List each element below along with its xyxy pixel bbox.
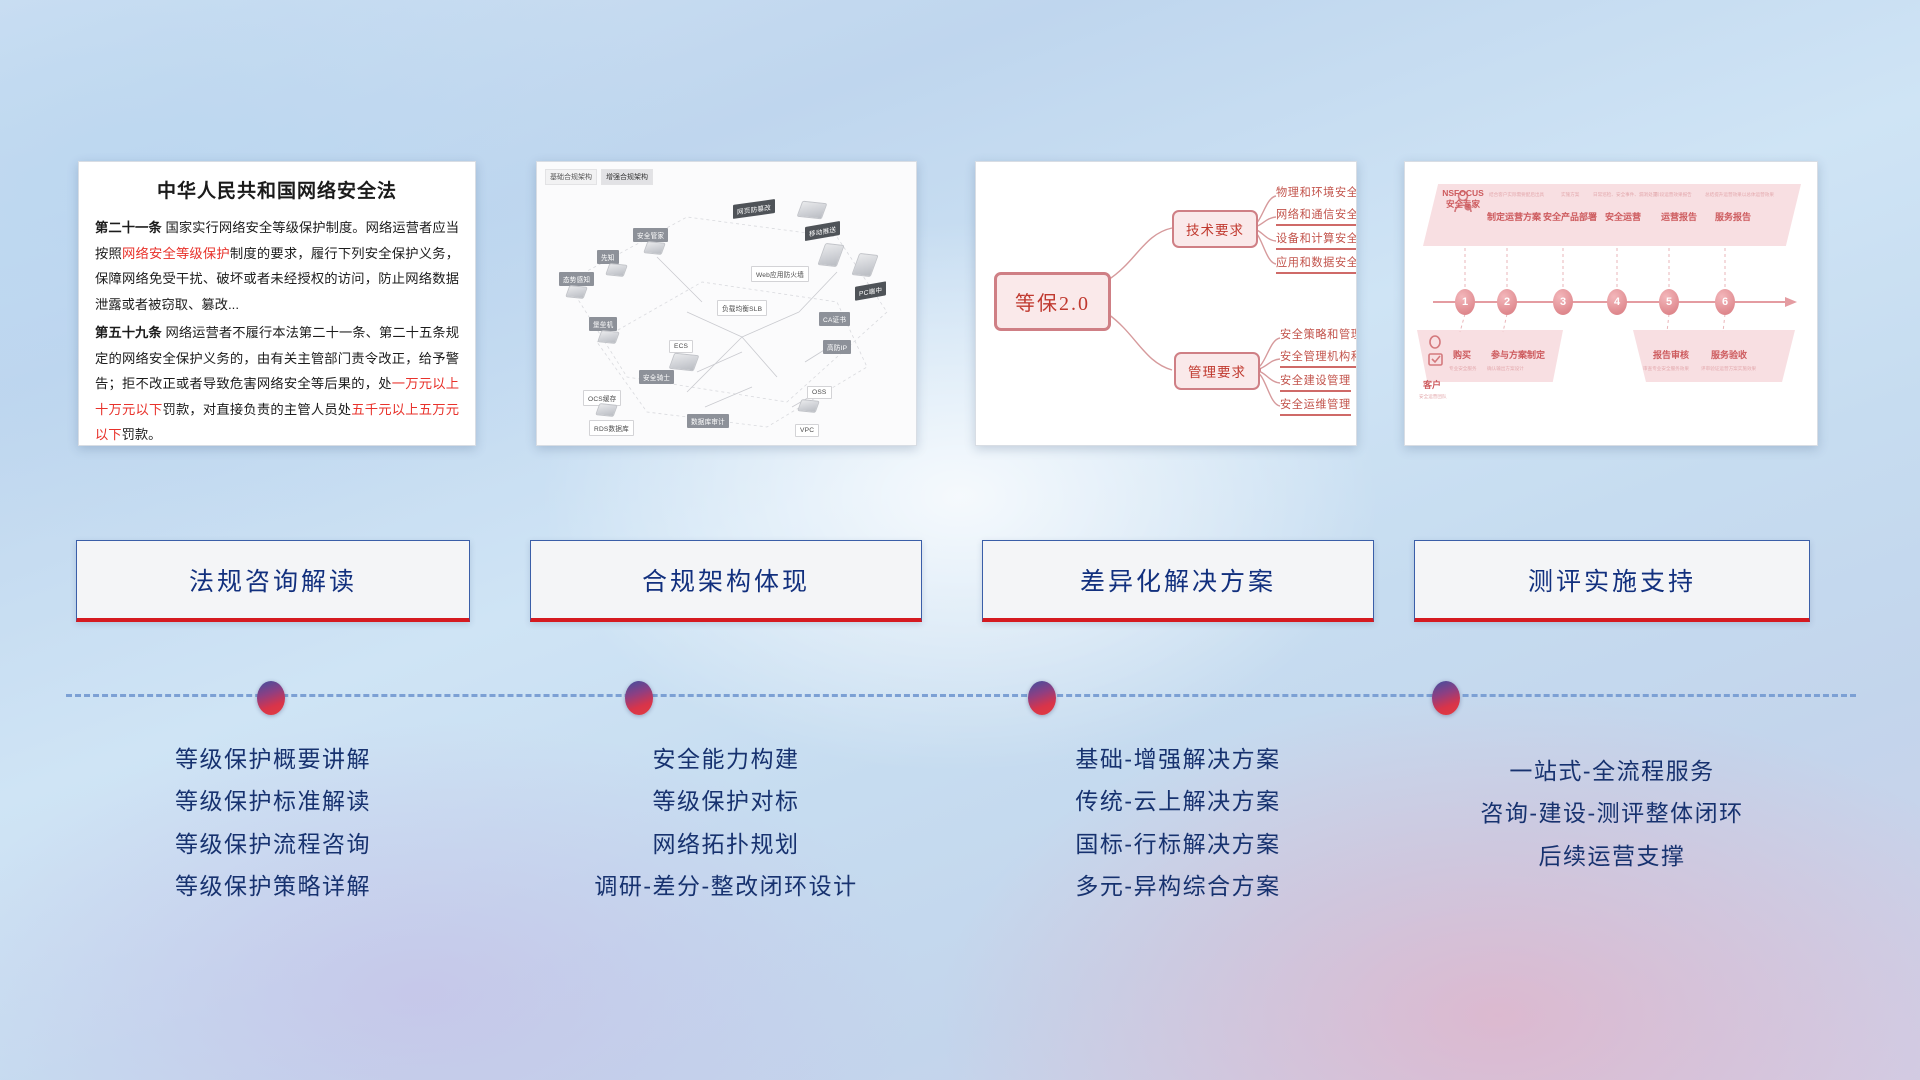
pillar-box-differentiated-solution[interactable]: 差异化解决方案 bbox=[982, 540, 1374, 622]
list-item: 等级保护标准解读 bbox=[76, 780, 470, 822]
mindmap-leaf-construction-mgmt: 安全建设管理 bbox=[1280, 372, 1351, 392]
article-21-label: 第二十一条 bbox=[95, 220, 162, 235]
architecture-diagram: 基础合规架构 增强合规架构 网页防篡改 bbox=[537, 162, 916, 445]
pillar-title-3: 差异化解决方案 bbox=[1080, 562, 1276, 598]
mindmap-branch-management: 管理要求 bbox=[1174, 352, 1260, 390]
node-load-balancer-slb: 负载均衡SLB bbox=[717, 300, 767, 316]
timeline-step-5-label: 运营报告 bbox=[1661, 210, 1697, 223]
bottom-right-sub-1: 审查专业安全服务效果 bbox=[1643, 366, 1689, 372]
article-21-highlight: 网络安全等级保护 bbox=[122, 246, 230, 261]
law-title: 中华人民共和国网络安全法 bbox=[95, 176, 459, 203]
pillar-title-2: 合规架构体现 bbox=[642, 562, 810, 598]
node-situation-awareness: 态势感知 bbox=[559, 272, 594, 286]
mindmap-branch-technical: 技术要求 bbox=[1172, 210, 1258, 248]
node-ca-certificate: CA证书 bbox=[819, 312, 850, 326]
list-item: 等级保护对标 bbox=[530, 780, 922, 822]
list-item: 基础-增强解决方案 bbox=[982, 738, 1374, 780]
list-item: 咨询-建设-测评整体闭环 bbox=[1414, 792, 1810, 834]
timeline-node-6[interactable]: 6 bbox=[1715, 289, 1735, 315]
list-item: 安全能力构建 bbox=[530, 738, 922, 780]
pillar-label-row: 法规咨询解读 合规架构体现 差异化解决方案 测评实施支持 bbox=[0, 540, 1920, 630]
nsfocus-brand: NSFOCUS bbox=[1435, 188, 1491, 199]
bottom-left-label-1: 购买 bbox=[1453, 348, 1471, 361]
timeline-step-3-sub: 日常巡检、安全事件、漏洞处置 bbox=[1593, 192, 1657, 198]
bottom-left-label-2: 参与方案制定 bbox=[1491, 348, 1545, 361]
node-rds-database: RDS数据库 bbox=[589, 420, 634, 436]
law-article-59: 第五十九条 网络运营者不履行本法第二十一条、第二十五条规定的网络安全保护义务的，… bbox=[95, 320, 459, 446]
bottom-right-sub-2: 评审验证运营方案实施效果 bbox=[1701, 366, 1756, 372]
timeline-top-expert-sub: 结合客户实际需要配后出具 bbox=[1489, 192, 1544, 198]
pillar-box-assessment-support[interactable]: 测评实施支持 bbox=[1414, 540, 1810, 622]
bottom-left-sub-1: 专业安全服务 bbox=[1449, 366, 1477, 372]
node-database-audit: 数据库审计 bbox=[687, 414, 729, 428]
timeline-node-5[interactable]: 5 bbox=[1659, 289, 1679, 315]
timeline-node-4[interactable]: 4 bbox=[1607, 289, 1627, 315]
timeline-node-1[interactable]: 1 bbox=[1455, 289, 1475, 315]
article-59-text-c: 罚款。 bbox=[122, 427, 162, 442]
nsfocus-expert-block: NSFOCUS 安全专家 bbox=[1435, 188, 1491, 209]
bottom-right-label-2: 服务验收 bbox=[1711, 348, 1747, 361]
timeline-marker-1 bbox=[257, 681, 285, 715]
list-item: 一站式-全流程服务 bbox=[1414, 750, 1810, 792]
pillar-title-1: 法规咨询解读 bbox=[189, 562, 357, 598]
bottom-left-sub-2: 确认输出方案设计 bbox=[1487, 366, 1524, 372]
pillar-title-4: 测评实施支持 bbox=[1528, 562, 1696, 598]
pillar-box-regulation-consulting[interactable]: 法规咨询解读 bbox=[76, 540, 470, 622]
card-compliance-architecture[interactable]: 基础合规架构 增强合规架构 网页防篡改 bbox=[536, 161, 917, 446]
list-item: 网络拓扑规划 bbox=[530, 823, 922, 865]
pillar-items-3: 基础-增强解决方案 传统-云上解决方案 国标-行标解决方案 多元-异构综合方案 bbox=[982, 738, 1374, 907]
node-oss: OSS bbox=[807, 386, 832, 399]
node-vpc: VPC bbox=[795, 424, 819, 437]
node-web-application-firewall: Web应用防火墙 bbox=[751, 266, 809, 282]
customer-label: 客户 bbox=[1423, 378, 1441, 391]
timeline-step-2-sub: 实施方案 bbox=[1561, 192, 1579, 198]
list-item: 调研-差分-整改闭环设计 bbox=[530, 865, 922, 907]
pillar-items-4: 一站式-全流程服务 咨询-建设-测评整体闭环 后续运营支撑 bbox=[1414, 750, 1810, 877]
timeline-step-4-label: 安全运营 bbox=[1605, 210, 1641, 223]
mindmap-leaf-ops-mgmt: 安全运维管理 bbox=[1280, 396, 1351, 416]
article-59-label: 第五十九条 bbox=[95, 325, 162, 340]
thumbnail-card-row: 中华人民共和国网络安全法 第二十一条 国家实行网络安全等级保护制度。网络运营者应… bbox=[0, 152, 1920, 452]
mindmap-diagram: 等保2.0 技术要求 管理要求 物理和环境安全 网络和通信安全 设备和计算安全 … bbox=[976, 162, 1356, 445]
timeline-step-6-sub: 总结提升运营效果以总体运营效果 bbox=[1705, 192, 1774, 198]
timeline-step-3-label: 安全产品部署 bbox=[1543, 210, 1597, 223]
pillar-items-2: 安全能力构建 等级保护对标 网络拓扑规划 调研-差分-整改闭环设计 bbox=[530, 738, 922, 907]
timeline-node-3[interactable]: 3 bbox=[1553, 289, 1573, 315]
node-ecs: ECS bbox=[669, 340, 693, 353]
pillar-box-compliance-architecture[interactable]: 合规架构体现 bbox=[530, 540, 922, 622]
timeline-marker-3 bbox=[1028, 681, 1056, 715]
list-item: 等级保护概要讲解 bbox=[76, 738, 470, 780]
mindmap-leaf-device-compute: 设备和计算安全 bbox=[1276, 230, 1357, 250]
timeline-marker-4 bbox=[1432, 681, 1460, 715]
list-item: 国标-行标解决方案 bbox=[982, 823, 1374, 865]
service-timeline-diagram: NSFOCUS 安全专家 结合客户实际需要配后出具 制定运营方案 实施方案 安全… bbox=[1405, 162, 1817, 445]
law-article-21: 第二十一条 国家实行网络安全等级保护制度。网络运营者应当按照网络安全等级保护制度… bbox=[95, 215, 459, 317]
timeline-step-6-label: 服务报告 bbox=[1715, 210, 1751, 223]
pillar-items-1: 等级保护概要讲解 等级保护标准解读 等级保护流程咨询 等级保护策略详解 bbox=[76, 738, 470, 907]
list-item: 等级保护流程咨询 bbox=[76, 823, 470, 865]
timeline-step-2-label: 制定运营方案 bbox=[1487, 210, 1541, 223]
mindmap-leaf-policy-system: 安全策略和管理制度 bbox=[1280, 326, 1357, 344]
node-security-knight: 安全骑士 bbox=[639, 370, 674, 384]
mindmap-leaf-network-comm: 网络和通信安全 bbox=[1276, 206, 1357, 226]
mindmap-leaf-org-personnel: 安全管理机构和人员 bbox=[1280, 348, 1357, 368]
customer-person-icon bbox=[1429, 336, 1442, 365]
node-xianzhi: 先知 bbox=[597, 250, 619, 264]
slide-canvas: 中华人民共和国网络安全法 第二十一条 国家实行网络安全等级保护制度。网络运营者应… bbox=[0, 0, 1920, 1080]
list-item: 等级保护策略详解 bbox=[76, 865, 470, 907]
timeline-step-5-sub: 阶段运营效果报告 bbox=[1655, 192, 1692, 198]
card-cybersecurity-law[interactable]: 中华人民共和国网络安全法 第二十一条 国家实行网络安全等级保护制度。网络运营者应… bbox=[78, 161, 476, 446]
timeline-node-2[interactable]: 2 bbox=[1497, 289, 1517, 315]
bottom-right-label-1: 报告审核 bbox=[1653, 348, 1689, 361]
timeline-dashed-axis bbox=[66, 694, 1856, 697]
timeline-marker-2 bbox=[625, 681, 653, 715]
node-bastion-host: 堡垒机 bbox=[589, 317, 617, 331]
mindmap-leaf-app-data: 应用和数据安全 bbox=[1276, 254, 1357, 274]
node-anti-ddos-ip: 高防IP bbox=[823, 340, 851, 354]
node-security-butler: 安全管家 bbox=[633, 228, 668, 242]
mindmap-root: 等保2.0 bbox=[994, 272, 1111, 331]
article-59-text-b: 罚款，对直接负责的主管人员处 bbox=[162, 402, 351, 417]
law-document: 中华人民共和国网络安全法 第二十一条 国家实行网络安全等级保护制度。网络运营者应… bbox=[79, 162, 475, 446]
mindmap-leaf-physical-env: 物理和环境安全 bbox=[1276, 184, 1357, 202]
list-item: 后续运营支撑 bbox=[1414, 835, 1810, 877]
list-item: 多元-异构综合方案 bbox=[982, 865, 1374, 907]
customer-sub: 安全运营团队 bbox=[1419, 394, 1447, 400]
list-item: 传统-云上解决方案 bbox=[982, 780, 1374, 822]
card-mindmap-dengbao[interactable]: 等保2.0 技术要求 管理要求 物理和环境安全 网络和通信安全 设备和计算安全 … bbox=[975, 161, 1357, 446]
nsfocus-brand-sub: 安全专家 bbox=[1435, 199, 1491, 210]
card-service-timeline[interactable]: NSFOCUS 安全专家 结合客户实际需要配后出具 制定运营方案 实施方案 安全… bbox=[1404, 161, 1818, 446]
